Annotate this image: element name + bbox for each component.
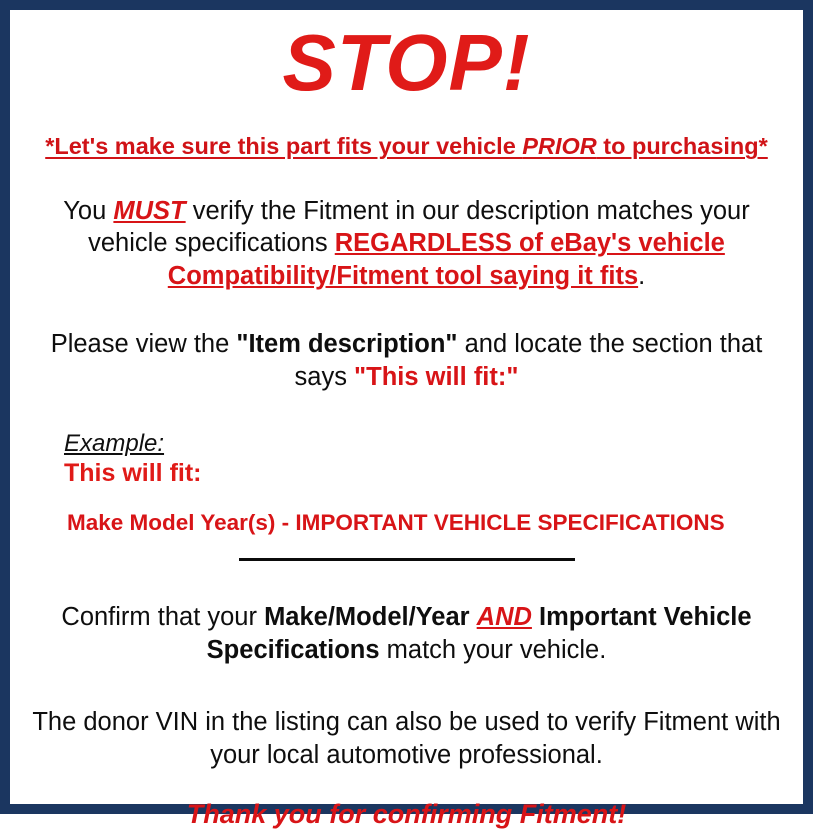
must-text-1: You (63, 197, 113, 225)
itemdesc-text-1: Please view the (51, 330, 237, 358)
subtitle-line: *Let's make sure this part fits your veh… (22, 132, 791, 160)
emphasis-item-description: "Item description" (236, 330, 457, 358)
must-text-3: . (638, 262, 645, 290)
paragraph-confirm: Confirm that your Make/Model/Year AND Im… (22, 601, 791, 666)
emphasis-and: AND (477, 603, 532, 631)
paragraph-donor-vin: The donor VIN in the listing can also be… (22, 706, 791, 771)
subtitle-text-after: to purchasing* (597, 133, 768, 159)
confirm-text-2: match your vehicle. (380, 636, 607, 664)
section-divider (239, 558, 575, 561)
page-title: STOP! (22, 20, 791, 106)
example-label: Example: (64, 430, 164, 458)
paragraph-must-verify: You MUST verify the Fitment in our descr… (22, 195, 791, 293)
example-block: Example: This will fit: Make Model Year(… (22, 430, 791, 536)
paragraph-item-description: Please view the "Item description" and l… (22, 328, 791, 393)
example-spec-line: Make Model Year(s) - IMPORTANT VEHICLE S… (64, 509, 791, 536)
confirm-space-2 (532, 603, 539, 631)
example-label-wrap: Example: (64, 430, 791, 458)
emphasis-must: MUST (113, 197, 185, 225)
notice-content: STOP! *Let's make sure this part fits yo… (10, 10, 803, 804)
confirm-space-1 (470, 603, 477, 631)
emphasis-make-model-year: Make/Model/Year (264, 603, 470, 631)
fitment-notice-card: STOP! *Let's make sure this part fits yo… (0, 0, 813, 814)
subtitle-emphasis-prior: PRIOR (522, 133, 596, 159)
divider-wrap (22, 558, 791, 561)
example-fit-label: This will fit: (64, 459, 791, 487)
confirm-text-1: Confirm that your (61, 603, 264, 631)
subtitle-text-before: *Let's make sure this part fits your veh… (45, 133, 522, 159)
emphasis-this-will-fit: "This will fit:" (354, 363, 518, 391)
